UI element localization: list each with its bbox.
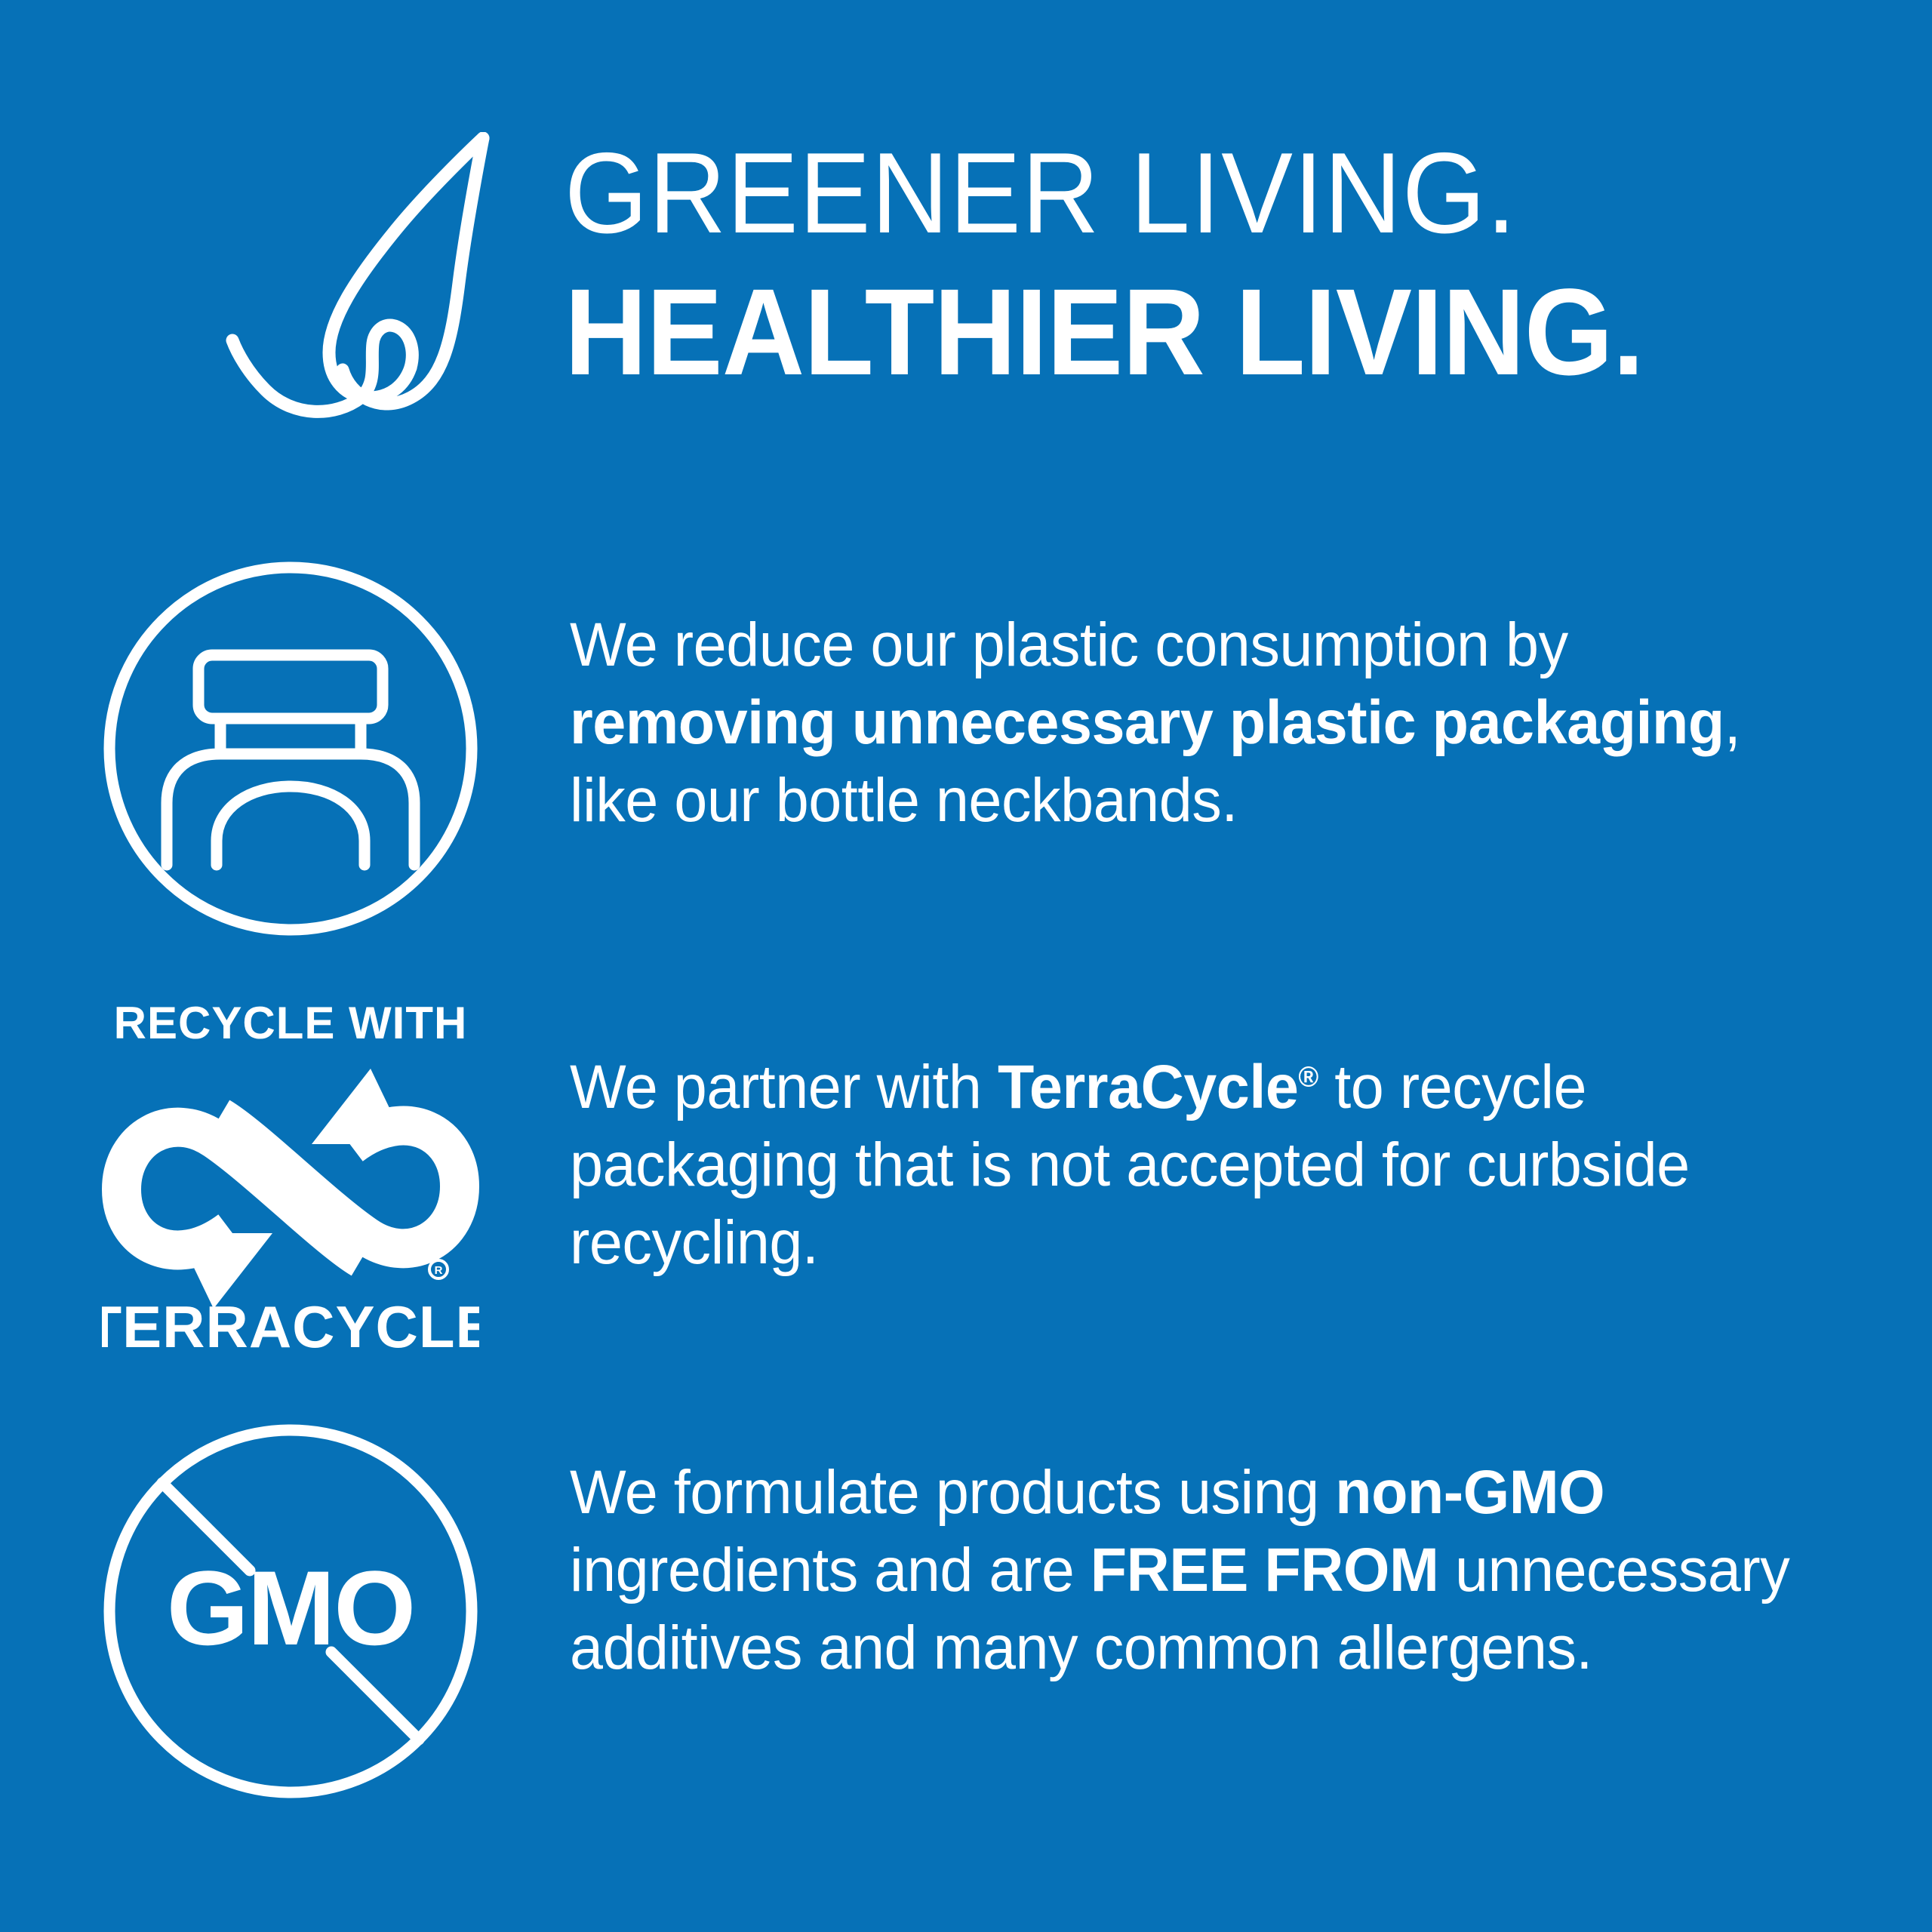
feature-text-plastic-reduction: We reduce our plastic consumption by rem…: [558, 560, 1932, 840]
body-copy-3: We formulate products using non-GMO ingr…: [570, 1423, 1841, 1687]
greener-living-infographic: GREENER LIVING. HEALTHIER LIVING.: [0, 0, 1932, 1932]
registered-mark-icon: R: [429, 1260, 448, 1278]
terracycle-bottom-label: TERRACYCLE: [102, 1294, 479, 1358]
headline-line-1: GREENER LIVING.: [565, 136, 1764, 251]
terracycle-logo-icon: RECYCLE WITH R TERRACYCLE: [0, 1004, 558, 1358]
feature-row-terracycle: RECYCLE WITH R TERRACYCLE: [0, 1004, 1932, 1381]
header: GREENER LIVING. HEALTHIER LIVING.: [0, 0, 1932, 483]
feature-text-non-gmo: We formulate products using non-GMO ingr…: [558, 1423, 1932, 1687]
terracycle-top-label: RECYCLE WITH: [114, 1004, 468, 1048]
plastic-bottle-in-circle-icon: [0, 560, 558, 937]
svg-text:R: R: [435, 1264, 443, 1277]
body-copy-1: We reduce our plastic consumption by rem…: [570, 560, 1841, 840]
headline-line-2: HEALTHIER LIVING.: [565, 270, 1758, 393]
body-copy-2: We partner with TerraCycle® to recycle p…: [570, 1004, 1841, 1282]
leaf-icon: [202, 132, 519, 426]
feature-row-non-gmo: GMO We formulate products using non-GMO …: [0, 1423, 1932, 1830]
feature-text-terracycle: We partner with TerraCycle® to recycle p…: [558, 1004, 1932, 1282]
gmo-label: GMO: [167, 1549, 414, 1667]
no-gmo-icon: GMO: [0, 1423, 558, 1800]
feature-row-plastic-reduction: We reduce our plastic consumption by rem…: [0, 560, 1932, 952]
page-title: GREENER LIVING. HEALTHIER LIVING.: [565, 136, 1847, 393]
